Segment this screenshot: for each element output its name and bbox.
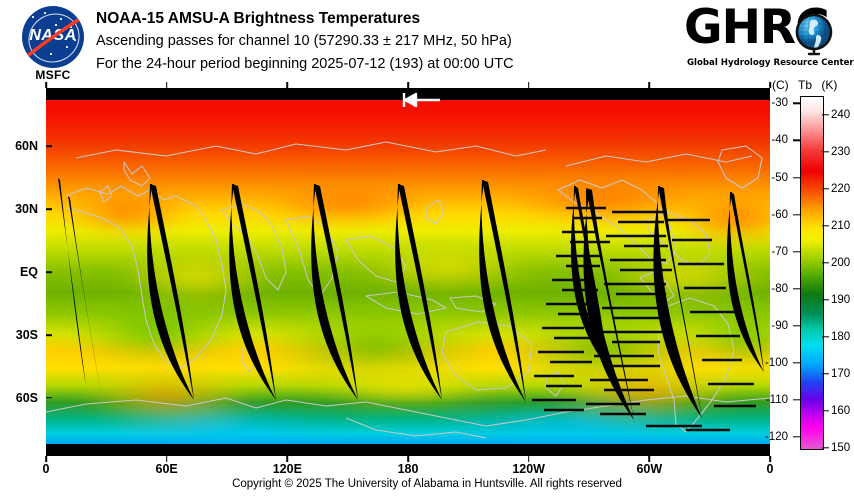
latitude-tick-eq <box>46 271 52 273</box>
colorbar-kelvin-label-240: 240 <box>831 109 850 121</box>
colorbar-celsius-label--50: -50 <box>771 172 788 184</box>
longitude-tick-5-top <box>649 82 651 88</box>
latitude-label-60n: 60N <box>15 139 38 153</box>
colorbar-header: (C) Tb (K) <box>772 78 837 92</box>
colorbar-kelvin-label-210: 210 <box>831 220 850 232</box>
longitude-tick-2-top <box>287 82 289 88</box>
latitude-tick-30n <box>46 208 52 210</box>
colorbar-kelvin-tick-240 <box>822 114 829 115</box>
colorbar-kelvin-tick-150 <box>822 447 829 448</box>
colorbar-kelvin-unit: (K) <box>821 78 837 92</box>
longitude-tick-4-top <box>528 82 530 88</box>
colorbar-celsius-label--70: -70 <box>771 246 788 258</box>
longitude-tick-1 <box>166 456 168 462</box>
colorbar-kelvin-label-150: 150 <box>831 442 850 454</box>
longitude-tick-0 <box>45 456 47 462</box>
longitude-tick-4 <box>528 456 530 462</box>
colorbar-kelvin-label-160: 160 <box>831 405 850 417</box>
colorbar-celsius-tick--70 <box>793 251 800 252</box>
colorbar-celsius-tick--40 <box>793 140 800 141</box>
longitude-tick-3 <box>407 456 409 462</box>
colorbar-celsius-tick--120 <box>793 436 800 437</box>
page-period: For the 24-hour period beginning 2025-07… <box>96 53 514 76</box>
longitude-tick-0-top <box>45 82 47 88</box>
colorbar-legend: (C) Tb (K) 24023022021020019018017016015… <box>800 96 854 464</box>
colorbar-celsius-label--110: -110 <box>766 394 788 406</box>
colorbar-kelvin-label-200: 200 <box>831 257 850 269</box>
colorbar-celsius-tick--60 <box>793 214 800 215</box>
longitude-ticks <box>0 456 854 466</box>
latitude-label-30n: 30N <box>15 202 38 216</box>
colorbar-tb-label: Tb <box>798 78 812 92</box>
colorbar-gradient <box>800 96 824 450</box>
longitude-ticks-top <box>0 88 854 98</box>
colorbar-kelvin-tick-160 <box>822 410 829 411</box>
colorbar-celsius-tick--30 <box>793 103 800 104</box>
colorbar-celsius-tick--50 <box>793 177 800 178</box>
latitude-axis: 60N30NEQ30S60S <box>0 0 46 502</box>
latitude-tick-30s <box>46 334 52 336</box>
colorbar-kelvin-tick-230 <box>822 151 829 152</box>
colorbar-celsius-tick--110 <box>793 399 800 400</box>
ghrc-logo: GHRC Global Hydrology Resou <box>684 6 846 78</box>
page-subtitle: Ascending passes for channel 10 (57290.3… <box>96 30 514 53</box>
globe-icon <box>792 12 838 58</box>
longitude-tick-6-top <box>769 82 771 88</box>
colorbar-kelvin-label-180: 180 <box>831 331 850 343</box>
colorbar-kelvin-label-230: 230 <box>831 146 850 158</box>
colorbar-kelvin-label-190: 190 <box>831 294 850 306</box>
colorbar-kelvin-tick-200 <box>822 262 829 263</box>
colorbar-celsius-label--30: -30 <box>771 97 788 109</box>
colorbar-celsius-label--100: -100 <box>765 357 788 369</box>
title-block: NOAA-15 AMSU-A Brightness Temperatures A… <box>96 8 514 76</box>
page-title: NOAA-15 AMSU-A Brightness Temperatures <box>96 8 514 30</box>
latitude-tick-60n <box>46 145 52 147</box>
colorbar-kelvin-label-170: 170 <box>831 368 850 380</box>
brightness-temperature-map[interactable] <box>46 100 770 444</box>
colorbar-celsius-unit: (C) <box>772 78 789 92</box>
longitude-tick-2 <box>287 456 289 462</box>
latitude-label-60s: 60S <box>16 391 38 405</box>
colorbar-kelvin-tick-210 <box>822 225 829 226</box>
latitude-tick-60s <box>46 397 52 399</box>
orbit-gap-swaths <box>46 100 770 444</box>
colorbar-celsius-label--80: -80 <box>771 283 788 295</box>
colorbar-celsius-tick--80 <box>793 288 800 289</box>
colorbar-kelvin-tick-180 <box>822 336 829 337</box>
latitude-ticks <box>46 0 56 502</box>
latitude-label-30s: 30S <box>16 328 38 342</box>
colorbar-celsius-tick--90 <box>793 325 800 326</box>
colorbar-kelvin-label-220: 220 <box>831 183 850 195</box>
longitude-tick-1-top <box>166 82 168 88</box>
colorbar-kelvin-tick-220 <box>822 188 829 189</box>
longitude-tick-6 <box>769 456 771 462</box>
colorbar-celsius-label--40: -40 <box>771 134 788 146</box>
latitude-label-eq: EQ <box>20 265 38 279</box>
ghrc-tagline: Global Hydrology Resource Center <box>687 58 854 68</box>
colorbar-celsius-label--60: -60 <box>771 209 788 221</box>
colorbar-celsius-tick--100 <box>793 362 800 363</box>
longitude-tick-3-top <box>407 82 409 88</box>
copyright-notice: Copyright © 2025 The University of Alaba… <box>0 478 854 490</box>
map-plot-area[interactable] <box>46 88 770 456</box>
colorbar-kelvin-tick-170 <box>822 373 829 374</box>
colorbar-kelvin-tick-190 <box>822 299 829 300</box>
colorbar-celsius-label--120: -120 <box>765 431 788 443</box>
longitude-tick-5 <box>649 456 651 462</box>
colorbar-celsius-label--90: -90 <box>771 320 788 332</box>
page-header: NASA MSFC NOAA-15 AMSU-A Brightness Temp… <box>0 0 854 88</box>
